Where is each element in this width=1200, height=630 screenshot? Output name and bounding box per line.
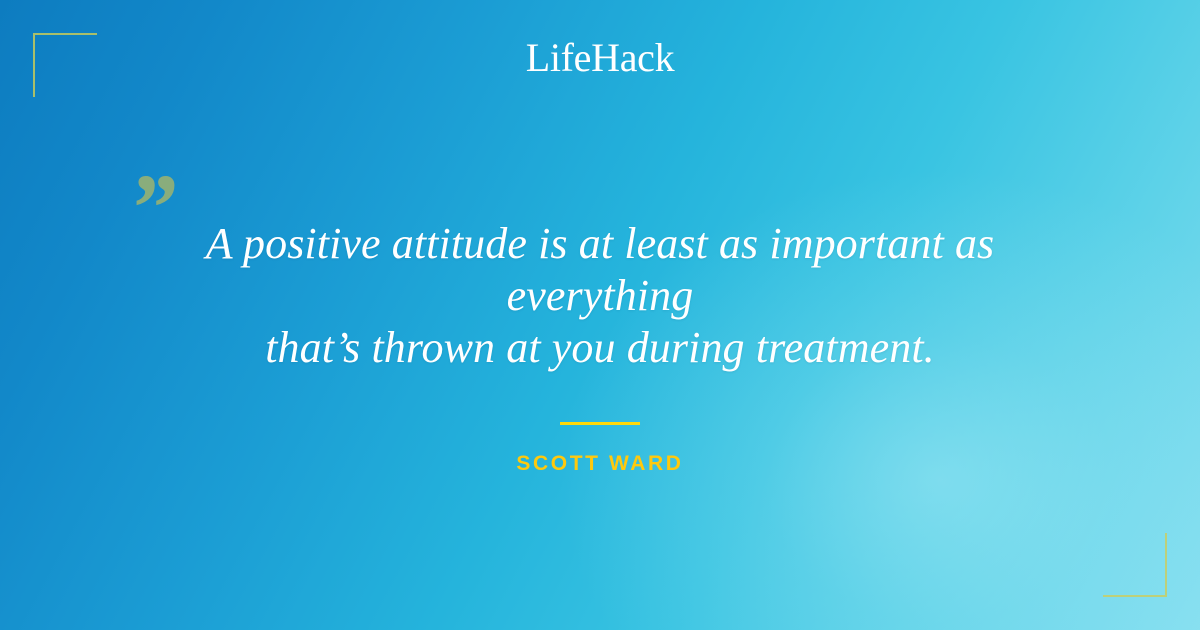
corner-bracket-bottom-right-icon: [1103, 533, 1167, 597]
quote-text: A positive attitude is at least as impor…: [110, 218, 1090, 374]
brand-wordmark: LifeHack: [526, 38, 675, 78]
quotation-mark-icon: ”: [128, 160, 176, 256]
quote-card: LifeHack ” A positive attitude is at lea…: [0, 0, 1200, 630]
attribution-divider: [560, 422, 640, 425]
quote-line-1: A positive attitude is at least as impor…: [110, 218, 1090, 322]
quote-block: ” A positive attitude is at least as imp…: [0, 160, 1200, 476]
quote-line-2: that’s thrown at you during treatment.: [110, 322, 1090, 374]
brand-logo: LifeHack: [0, 38, 1200, 78]
attribution: SCOTT WARD: [0, 422, 1200, 476]
author-name: SCOTT WARD: [516, 452, 683, 476]
